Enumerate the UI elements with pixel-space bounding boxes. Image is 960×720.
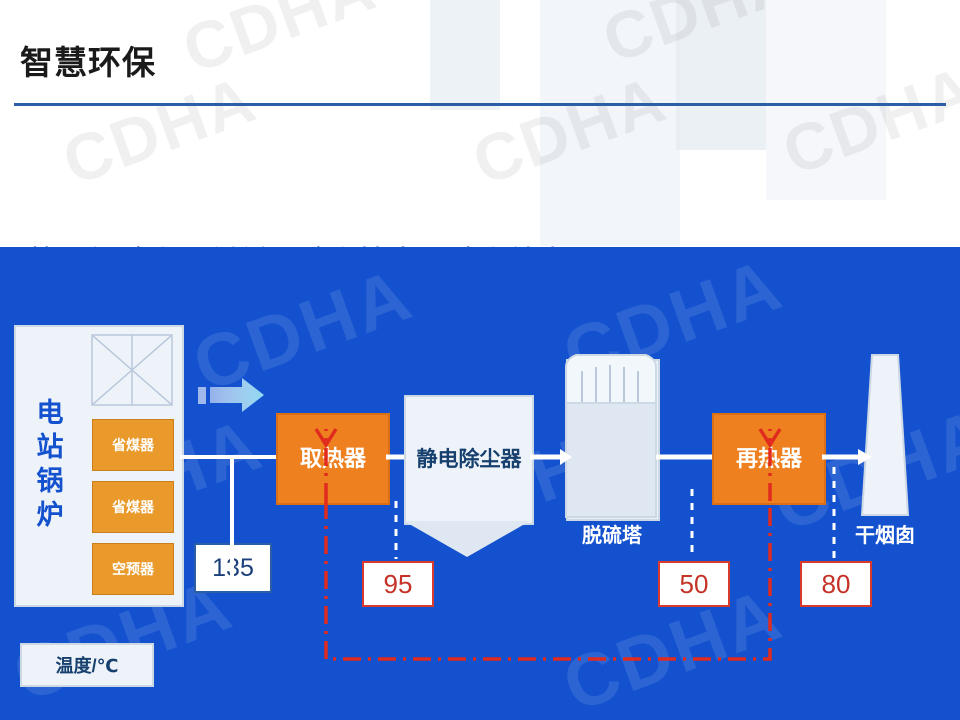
flue-gas-arrow-icon — [196, 375, 266, 415]
stack-label: 干烟囱 — [842, 519, 928, 548]
boiler-label-char: 电 — [37, 396, 64, 430]
temperature-unit-legend: 温度/℃ — [20, 643, 154, 687]
boiler-label-char: 站 — [37, 430, 64, 464]
temperature-box-80: 80 — [800, 561, 872, 607]
boiler-label-char: 炉 — [37, 498, 64, 532]
heat-exchanger-node: 取热器 — [276, 413, 390, 505]
temperature-box-135: 135 — [194, 543, 272, 593]
slide-root: CDHA CDHA CDHA CDHA CDHA 智慧环保 第一级除尘：低低温除… — [0, 0, 960, 720]
page-title: 智慧环保 — [20, 36, 156, 84]
process-flow-diagram: 电 站 锅 炉 省煤器 省煤器 空预器 — [0, 247, 960, 720]
diagram-panel: CDHA CDHA CDHA CDHA CDHA CDHA CDHA 电 站 锅… — [0, 247, 960, 720]
slide-header: 智慧环保 — [0, 0, 960, 105]
fgd-tower-body — [566, 359, 660, 521]
boiler-label-char: 锅 — [37, 464, 64, 498]
fgd-label: 脱硫塔 — [556, 519, 668, 548]
esp-hopper — [404, 521, 530, 557]
header-divider — [14, 103, 946, 106]
air-preheater: 空预器 — [92, 543, 174, 595]
economizer-2: 省煤器 — [92, 481, 174, 533]
temperature-box-50: 50 — [658, 561, 730, 607]
esp-node: 静电除尘器 — [404, 395, 534, 525]
bullet-block: 第一级除尘：低低温除尘技术，除尘效率 > 99.95%，出口含尘浓度 < 15m… — [0, 112, 960, 242]
temperature-box-95: 95 — [362, 561, 434, 607]
economizer-1: 省煤器 — [92, 419, 174, 471]
reheater-node: 再热器 — [712, 413, 826, 505]
boiler-label: 电 站 锅 炉 — [22, 339, 78, 589]
